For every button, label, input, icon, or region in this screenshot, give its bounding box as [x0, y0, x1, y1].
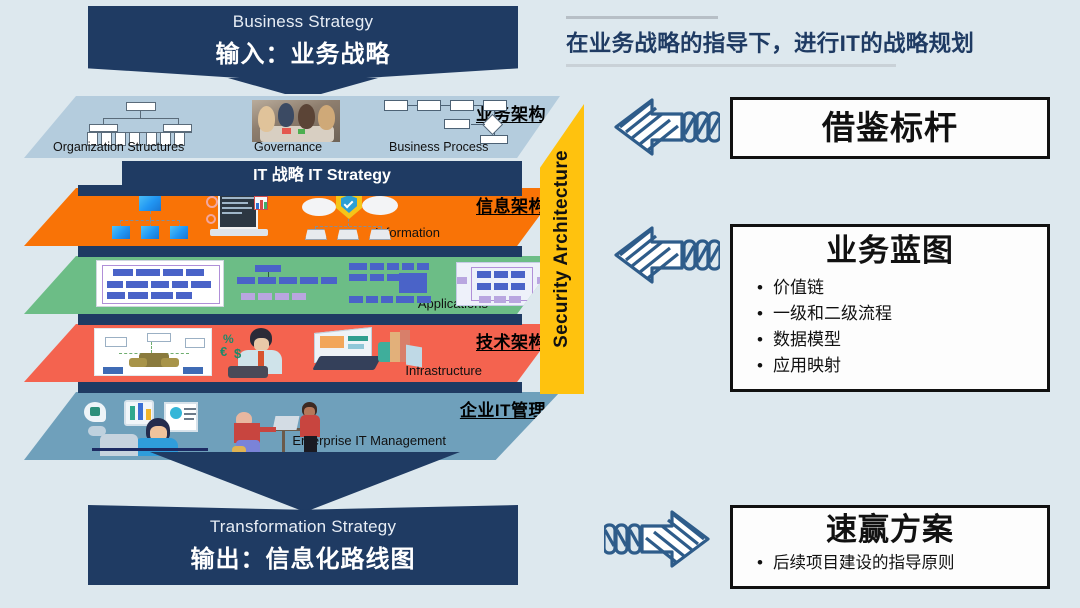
bullet-text: 后续项目建设的指导原则	[773, 550, 955, 576]
layer-application-architecture: 应用架构 Applications	[24, 256, 560, 314]
bullet-glyph: •	[747, 275, 773, 301]
striped-arrow-left-icon-1	[604, 96, 720, 158]
card-business-blueprint[interactable]: 业务蓝图 • 价值链 • 一级和二级流程 • 数据模型 • 应用映射	[730, 224, 1050, 392]
list-item: • 一级和二级流程	[747, 301, 1047, 327]
it-support-illustration	[82, 398, 212, 456]
card-quick-win[interactable]: 速赢方案 • 后续项目建设的指导原则	[730, 505, 1050, 589]
layer-enterprise-it-management: 企业IT管理 Enterprise IT Management	[24, 392, 560, 460]
layer-infrastructure-label-zh: 技术架构	[476, 328, 546, 353]
top-banner-english: Business Strategy	[88, 12, 518, 32]
striped-arrow-right-icon-3	[604, 508, 720, 570]
bullet-glyph: •	[747, 550, 773, 576]
top-banner: Business Strategy 输入：业务战略	[88, 6, 518, 82]
bullet-glyph: •	[747, 327, 773, 353]
bottom-banner-english: Transformation Strategy	[88, 517, 518, 537]
bullet-text: 应用映射	[773, 353, 841, 379]
business-process-flow-icon	[384, 100, 512, 144]
caption-governance: Governance	[254, 140, 322, 154]
divider-application-infrastructure	[78, 314, 522, 325]
list-item: • 价值链	[747, 275, 1047, 301]
it-strategy-label: IT 战略 IT Strategy	[253, 161, 391, 185]
application-diagram-1	[96, 260, 224, 307]
application-diagram-2	[234, 262, 338, 307]
bullet-text: 数据模型	[773, 327, 841, 353]
list-item: • 数据模型	[747, 327, 1047, 353]
divider-information-application	[78, 246, 522, 257]
it-strategy-bar: IT 战略 IT Strategy	[122, 161, 522, 185]
list-item: • 后续项目建设的指导原则	[747, 550, 1047, 576]
caption-organization-structures: Organization Structures	[53, 140, 184, 154]
governance-photo	[252, 100, 340, 142]
header-rule-bottom	[566, 64, 896, 67]
layer-information-architecture: 信息架构 Information	[24, 188, 560, 246]
layer-enterprise-label-zh: 企业IT管理	[460, 396, 546, 421]
list-item: • 应用映射	[747, 353, 1047, 379]
header-title: 在业务战略的指导下，进行IT的战略规划	[566, 19, 1066, 64]
application-diagram-4	[456, 262, 548, 306]
network-screens-icon	[112, 194, 190, 238]
bullet-glyph: •	[747, 353, 773, 379]
card-benchmark[interactable]: 借鉴标杆	[730, 97, 1050, 159]
header-block: 在业务战略的指导下，进行IT的战略规划	[566, 16, 1066, 67]
bullet-text: 一级和二级流程	[773, 301, 892, 327]
striped-arrow-left-icon-2	[604, 224, 720, 286]
card-quick-win-title: 速赢方案	[733, 510, 1047, 550]
cloud-security-icon	[302, 190, 398, 240]
divider-infrastructure-enterprise	[78, 382, 522, 393]
network-topology-diagram	[94, 328, 212, 376]
devices-illustration	[314, 328, 424, 378]
divider-business-information	[78, 185, 522, 196]
caption-business-process: Business Process	[389, 140, 488, 154]
top-connector-arrow	[228, 78, 378, 94]
data-analytics-icon	[204, 190, 278, 242]
bottom-connector-arrow	[150, 452, 460, 512]
security-architecture-band	[540, 104, 584, 394]
bullet-glyph: •	[747, 301, 773, 327]
org-chart-icon	[84, 102, 194, 140]
layer-infrastructure-architecture: 技术架构 Infrastructure % € $	[24, 324, 560, 382]
card-business-blueprint-bullets: • 价值链 • 一级和二级流程 • 数据模型 • 应用映射	[733, 275, 1047, 379]
card-benchmark-title: 借鉴标杆	[733, 100, 1047, 156]
finance-person-illustration: % € $	[220, 326, 296, 380]
card-quick-win-bullets: • 后续项目建设的指导原则	[733, 550, 1047, 576]
top-banner-chinese: 输入：业务战略	[88, 34, 518, 69]
application-diagram-3	[348, 260, 448, 307]
layer-business-architecture: 业务架构 Organization Structures	[24, 96, 560, 158]
office-desk-illustration	[230, 400, 326, 456]
bottom-banner-chinese: 输出：信息化路线图	[88, 539, 518, 574]
bottom-banner: Transformation Strategy 输出：信息化路线图	[88, 505, 518, 585]
bullet-text: 价值链	[773, 275, 824, 301]
card-business-blueprint-title: 业务蓝图	[733, 231, 1047, 271]
slide-canvas: Business Strategy 输入：业务战略 业务架构 Organizat…	[0, 0, 1080, 608]
